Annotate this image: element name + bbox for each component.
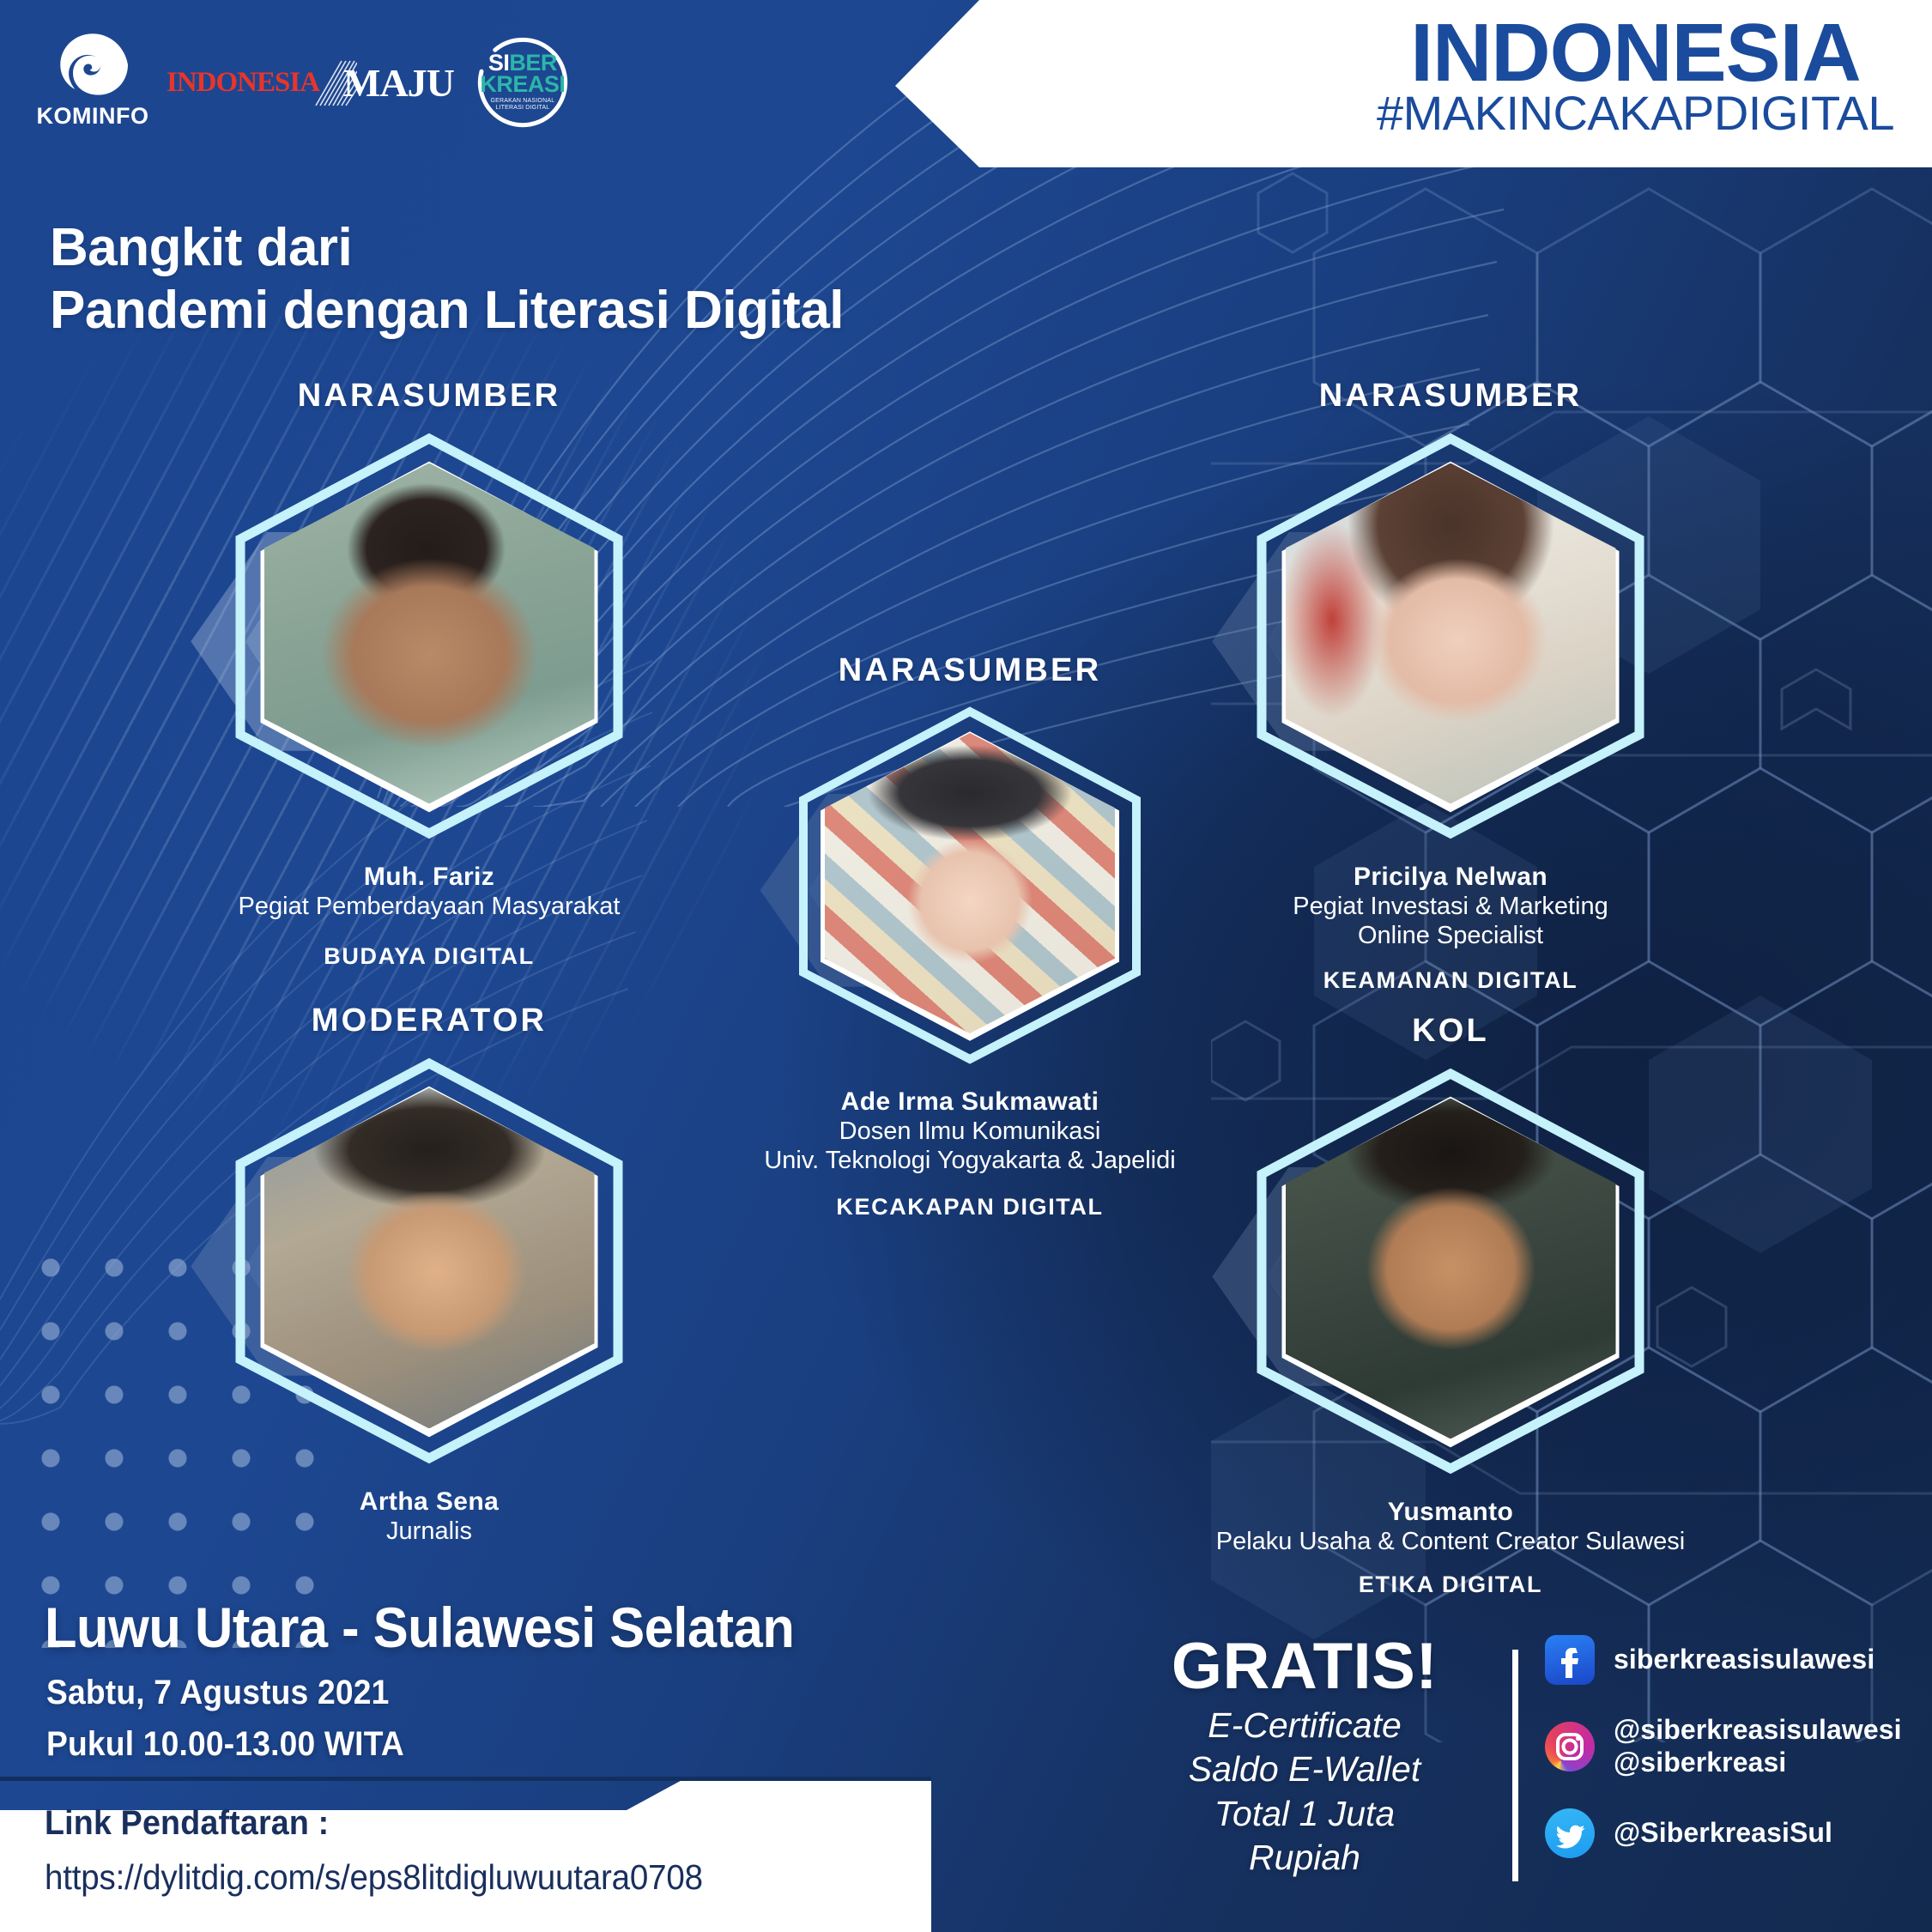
siber-kreasi: KREASI	[480, 74, 565, 95]
indonesia-maju-maju: MAJU	[343, 60, 454, 106]
poster-canvas: KOMINFO INDONESIA MAJU SIBER KREASI GERA…	[0, 0, 1932, 1932]
speaker-card-artha-sena: MODERATOR Artha Sena Jurnalis	[180, 1002, 678, 1546]
social-links: siberkreasisulawesi @siberkreasisulawesi…	[1545, 1635, 1902, 1887]
headline-line-2: Pandemi dengan Literasi Digital	[50, 279, 844, 342]
page-title: Bangkit dari Pandemi dengan Literasi Dig…	[50, 216, 844, 342]
registration-label: Link Pendaftaran :	[45, 1804, 329, 1843]
speaker-title-line-2: Online Specialist	[1202, 921, 1699, 950]
footer-panel	[0, 1778, 931, 1932]
speaker-role-label: NARASUMBER	[721, 652, 1219, 689]
speaker-name: Pricilya Nelwan	[1202, 863, 1699, 892]
event-location: Luwu Utara - Sulawesi Selatan	[45, 1595, 794, 1660]
siberkreasi-logo: SIBER KREASI GERAKAN NASIONALLITERASI DI…	[476, 36, 569, 129]
speaker-pillar: KECAKAPAN DIGITAL	[721, 1194, 1219, 1220]
speaker-title: Pegiat Pemberdayaan Masyarakat	[180, 892, 678, 921]
facebook-icon[interactable]	[1545, 1635, 1595, 1685]
perks-item-2: Saldo E-Wallet	[1154, 1747, 1455, 1791]
social-divider	[1512, 1650, 1518, 1881]
headline-line-1: Bangkit dari	[50, 216, 844, 279]
perks-heading: GRATIS!	[1154, 1629, 1455, 1704]
social-row-instagram[interactable]: @siberkreasisulawesi @siberkreasi	[1545, 1714, 1902, 1779]
registration-url[interactable]: https://dylitdig.com/s/eps8litdigluwuuta…	[45, 1857, 703, 1898]
social-row-twitter[interactable]: @SiberkreasiSul	[1545, 1808, 1902, 1858]
speaker-role-label: KOL	[1202, 1013, 1699, 1050]
perks-item-1: E-Certificate	[1154, 1704, 1455, 1747]
speaker-role-label: MODERATOR	[180, 1002, 678, 1039]
siber-subtitle: GERAKAN NASIONALLITERASI DIGITAL	[491, 98, 555, 112]
kominfo-logo: KOMINFO	[41, 31, 144, 130]
speaker-card-ade-irma-sukmawati: NARASUMBER Ade Irma Sukmawati Dosen Ilmu…	[721, 652, 1219, 1220]
speaker-name: Muh. Fariz	[180, 863, 678, 892]
indonesia-maju-logo: INDONESIA MAJU	[167, 51, 454, 116]
speaker-title-line-2: Univ. Teknologi Yogyakarta & Japelidi	[721, 1146, 1219, 1175]
kominfo-wordmark: KOMINFO	[37, 103, 149, 130]
speaker-title: Pelaku Usaha & Content Creator Sulawesi	[1202, 1527, 1699, 1556]
instagram-handles[interactable]: @siberkreasisulawesi @siberkreasi	[1614, 1714, 1902, 1779]
speaker-card-yusmanto: KOL Yusmanto Pelaku Usaha & Content Crea…	[1202, 1013, 1699, 1598]
perks-block: GRATIS! E-Certificate Saldo E-Wallet Tot…	[1154, 1629, 1455, 1880]
brand-hashtag: #MAKINCAKAPDIGITAL	[1377, 89, 1894, 137]
brand-dash-decor	[1856, 136, 1891, 143]
kominfo-globe-icon	[58, 31, 128, 101]
speaker-name: Yusmanto	[1202, 1498, 1699, 1527]
speaker-pillar: ETIKA DIGITAL	[1202, 1572, 1699, 1598]
speaker-title: Jurnalis	[180, 1517, 678, 1546]
twitter-handle[interactable]: @SiberkreasiSul	[1614, 1817, 1832, 1850]
partner-logos: KOMINFO INDONESIA MAJU SIBER KREASI GERA…	[41, 31, 569, 130]
speaker-pillar: KEAMANAN DIGITAL	[1202, 967, 1699, 994]
event-time: Pukul 10.00-13.00 WITA	[46, 1725, 404, 1764]
instagram-handle-2[interactable]: @siberkreasi	[1614, 1747, 1902, 1779]
instagram-icon[interactable]	[1545, 1722, 1595, 1772]
speaker-role-label: NARASUMBER	[1202, 378, 1699, 415]
speaker-card-muh-fariz: NARASUMBER Muh. Fariz Pegiat Pemberdayaa…	[180, 378, 678, 970]
speaker-title-line-1: Pegiat Investasi & Marketing	[1202, 892, 1699, 921]
twitter-icon[interactable]	[1545, 1808, 1595, 1858]
event-date: Sabtu, 7 Agustus 2021	[46, 1674, 389, 1712]
footer-rule	[0, 1777, 931, 1781]
speaker-role-label: NARASUMBER	[180, 378, 678, 415]
instagram-handle-1[interactable]: @siberkreasisulawesi	[1614, 1714, 1902, 1747]
facebook-handle[interactable]: siberkreasisulawesi	[1614, 1644, 1874, 1676]
social-row-facebook[interactable]: siberkreasisulawesi	[1545, 1635, 1902, 1685]
indonesia-maju-indonesia: INDONESIA	[167, 67, 319, 99]
speaker-card-pricilya-nelwan: NARASUMBER Pricilya Nelwan Pegiat Invest…	[1202, 378, 1699, 994]
brand-indonesia-title: INDONESIA	[1410, 15, 1860, 91]
speaker-pillar: BUDAYA DIGITAL	[180, 943, 678, 970]
speaker-name: Artha Sena	[180, 1487, 678, 1517]
speaker-title-line-1: Dosen Ilmu Komunikasi	[721, 1117, 1219, 1146]
perks-item-3: Total 1 Juta Rupiah	[1154, 1792, 1455, 1881]
speaker-name: Ade Irma Sukmawati	[721, 1087, 1219, 1117]
